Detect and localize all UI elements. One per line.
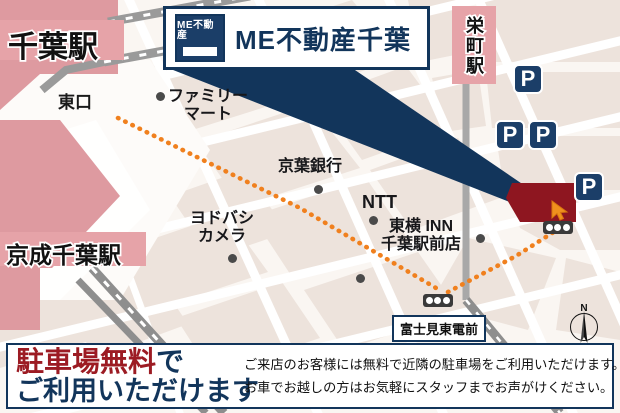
poi-label-toyoko-inn: 東横 INN 千葉駅前店 (381, 218, 461, 254)
banner-note-line2: お車でお越しの方はお気軽にスタッフまでお声がけください。 (244, 376, 620, 399)
logo-name: ME不動産千葉 (225, 20, 427, 57)
poi-dot-yodobashi (228, 254, 237, 263)
banner-headline-tail: で (156, 346, 184, 377)
station-label-keisei-chiba-text: 京成千葉駅 (6, 242, 121, 268)
location-cursor-icon (551, 200, 571, 222)
poi-dot-toyoko-inn (476, 234, 485, 243)
poi-famimart-line1: ファミリー (168, 88, 248, 106)
banner-headline: 駐車場無料で ご利用いただけます (8, 347, 244, 405)
parking-icon-1[interactable]: P (513, 64, 543, 94)
station-label-chiba: 千葉駅 (8, 22, 98, 66)
banner-headline-line1: 駐車場無料で (16, 347, 244, 376)
poi-toyoko-line1: 東横 INN (381, 218, 461, 236)
poi-toyoko-line2: 千葉駅前店 (381, 236, 461, 254)
parking-icon-3[interactable]: P (528, 120, 558, 150)
poi-label-keiyo-bank: 京葉銀行 (278, 158, 342, 176)
station-label-keisei-chiba: 京成千葉駅 (6, 236, 121, 270)
poi-dot-ntt (369, 216, 378, 225)
logo-mark-text: ME不動産 (177, 21, 223, 41)
station-label-sakaecho-text: 栄町駅 (466, 16, 484, 76)
traffic-signal-icon-2 (423, 294, 453, 307)
parking-icon-2[interactable]: P (495, 120, 525, 150)
banner-headline-red: 駐車場無料 (16, 346, 156, 377)
poi-famimart-line2: マート (168, 106, 248, 124)
parking-icon-4[interactable]: P (574, 172, 604, 202)
poi-dot-keiyo-bank (314, 185, 323, 194)
banner-note-line1: ご来店のお客様には無料で近隣の駐車場をご利用いただけます。 (244, 353, 620, 376)
parking-notice-banner: 駐車場無料で ご利用いただけます ご来店のお客様には無料で近隣の駐車場をご利用い… (6, 343, 614, 409)
logo-mark-bar (183, 47, 217, 56)
poi-yodobashi-line1: ヨドバシ (190, 210, 254, 228)
logo-mark-icon: ME不動産 (175, 14, 225, 62)
access-map: 千葉駅 京成千葉駅 栄町駅 東口 ME不動産 ME不動産千葉 ファミリー マート… (0, 0, 620, 413)
poi-label-yodobashi: ヨドバシ カメラ (190, 210, 254, 246)
poi-label-ntt: NTT (362, 192, 397, 212)
poi-dot-famimart (156, 92, 165, 101)
intersection-label: 富士見東電前 (392, 315, 486, 342)
exit-label-east: 東口 (58, 88, 92, 113)
banner-headline-line2: ご利用いただけます (16, 377, 244, 405)
banner-note: ご来店のお客様には無料で近隣の駐車場をご利用いただけます。 お車でお越しの方はお… (244, 353, 620, 399)
traffic-signal-icon-1 (543, 221, 573, 234)
logo-box: ME不動産 ME不動産千葉 (163, 6, 430, 70)
poi-yodobashi-line2: カメラ (190, 228, 254, 246)
station-label-sakaecho: 栄町駅 (458, 16, 492, 76)
poi-label-famimart: ファミリー マート (168, 88, 248, 124)
station-label-chiba-text: 千葉駅 (8, 31, 98, 64)
poi-dot-toyoko-inn-2 (356, 274, 365, 283)
